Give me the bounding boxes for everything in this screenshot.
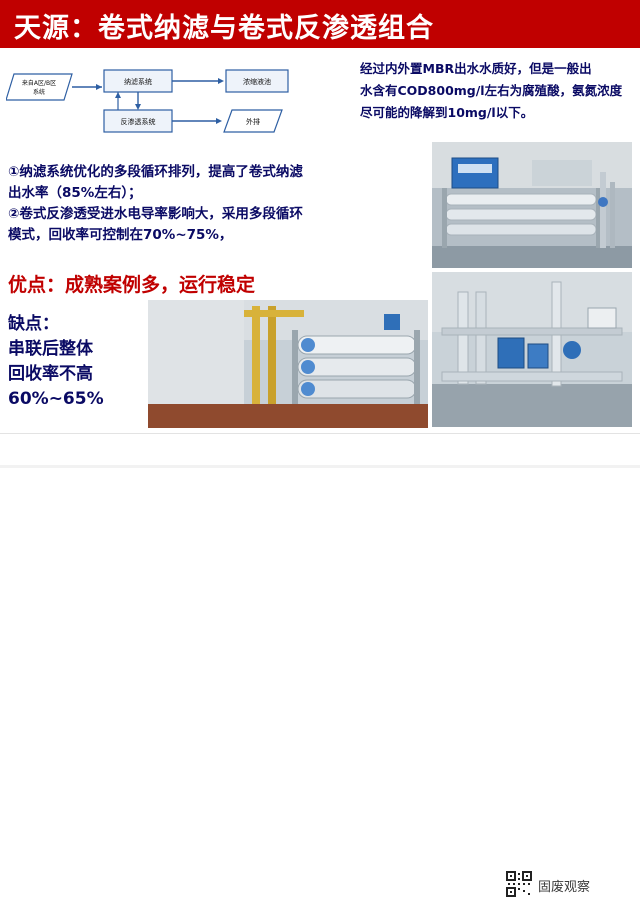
membrane-vessels-photo	[148, 300, 428, 428]
process-flow-diagram: 来自A区/B区 系统 纳滤系统 反渗透系统 浓缩液池	[6, 56, 351, 149]
slide-root: 天源：卷式纳滤与卷式反渗透组合 来自A区/B区 系统 纳滤系统 反渗透系统	[0, 0, 640, 468]
footer-bar: 固废观察	[0, 433, 640, 469]
right-note-line-3: 尽可能的降解到10mg/l以下。	[360, 102, 632, 124]
footer-account-name: 固废观察	[538, 876, 590, 895]
ro-skid-photo	[432, 142, 632, 268]
qr-code-icon	[506, 871, 532, 897]
left-line-3: ②卷式反渗透受进水电导率影响大，采用多段循环	[8, 204, 353, 225]
left-line-2: 出水率（85%左右）；	[8, 183, 353, 204]
page-title: 天源：卷式纳滤与卷式反渗透组合	[14, 6, 434, 45]
left-line-4: 模式，回收率可控制在70%~75%，	[8, 225, 353, 246]
left-description-text: ①纳滤系统优化的多段循环排列，提高了卷式纳滤 出水率（85%左右）； ②卷式反渗…	[8, 162, 353, 246]
advantage-text: 优点：成熟案例多，运行稳定	[8, 270, 255, 297]
svg-text:系统: 系统	[33, 88, 45, 96]
svg-text:外排: 外排	[246, 117, 260, 126]
pipework-photo	[432, 272, 632, 427]
drawback-line-2: 串联后整体	[8, 337, 104, 362]
left-line-1: ①纳滤系统优化的多段循环排列，提高了卷式纳滤	[8, 162, 353, 183]
svg-text:纳滤系统: 纳滤系统	[124, 77, 152, 86]
drawback-line-1: 缺点：	[8, 312, 104, 337]
svg-text:浓缩液池: 浓缩液池	[243, 77, 271, 86]
svg-text:反渗透系统: 反渗透系统	[121, 117, 156, 126]
right-note-line-2: 水含有COD800mg/l左右为腐殖酸，氨氮浓度	[360, 80, 632, 102]
right-note-text: 经过内外置MBR出水水质好，但是一般出 水含有COD800mg/l左右为腐殖酸，…	[360, 58, 632, 124]
drawback-line-4: 60%~65%	[8, 387, 104, 412]
drawback-text: 缺点： 串联后整体 回收率不高 60%~65%	[8, 312, 104, 412]
svg-text:来自A区/B区: 来自A区/B区	[22, 79, 56, 87]
drawback-line-3: 回收率不高	[8, 362, 104, 387]
right-note-line-1: 经过内外置MBR出水水质好，但是一般出	[360, 58, 632, 80]
title-bar: 天源：卷式纳滤与卷式反渗透组合	[0, 0, 640, 48]
